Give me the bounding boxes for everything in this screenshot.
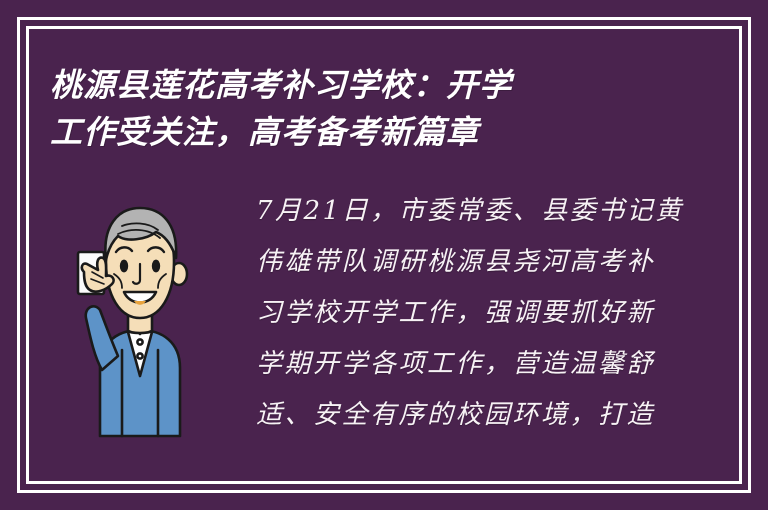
article-line-2: 伟雄带队调研桃源县尧河高考补 bbox=[256, 237, 724, 288]
elderly-man-on-phone-illustration bbox=[60, 200, 220, 450]
article-line-1: 7月21日，市委常委、县委书记黄 bbox=[256, 186, 724, 237]
shirt-button-1 bbox=[137, 339, 142, 344]
article-body: 7月21日，市委常委、县委书记黄 伟雄带队调研桃源县尧河高考补 习学校开学工作，… bbox=[256, 186, 724, 441]
right-eye bbox=[152, 260, 160, 273]
card-content: 7月21日，市委常委、县委书记黄 伟雄带队调研桃源县尧河高考补 习学校开学工作，… bbox=[44, 186, 724, 468]
page-title: 桃源县莲花高考补习学校：开学 工作受关注，高考备考新篇章 bbox=[50, 62, 690, 156]
shirt-button-2 bbox=[137, 353, 142, 358]
elderly-man-svg bbox=[60, 200, 220, 450]
article-line-4: 学期开学各项工作，营造温馨舒 bbox=[256, 339, 724, 390]
left-eye bbox=[120, 260, 128, 273]
article-banner-card: 桃源县莲花高考补习学校：开学 工作受关注，高考备考新篇章 bbox=[0, 0, 768, 510]
article-line-3: 习学校开学工作，强调要抓好新 bbox=[256, 288, 724, 339]
title-line-2: 工作受关注，高考备考新篇章 bbox=[50, 109, 690, 156]
article-line-5: 适、安全有序的校园环境，打造 bbox=[256, 390, 724, 441]
title-line-1: 桃源县莲花高考补习学校：开学 bbox=[50, 62, 690, 109]
